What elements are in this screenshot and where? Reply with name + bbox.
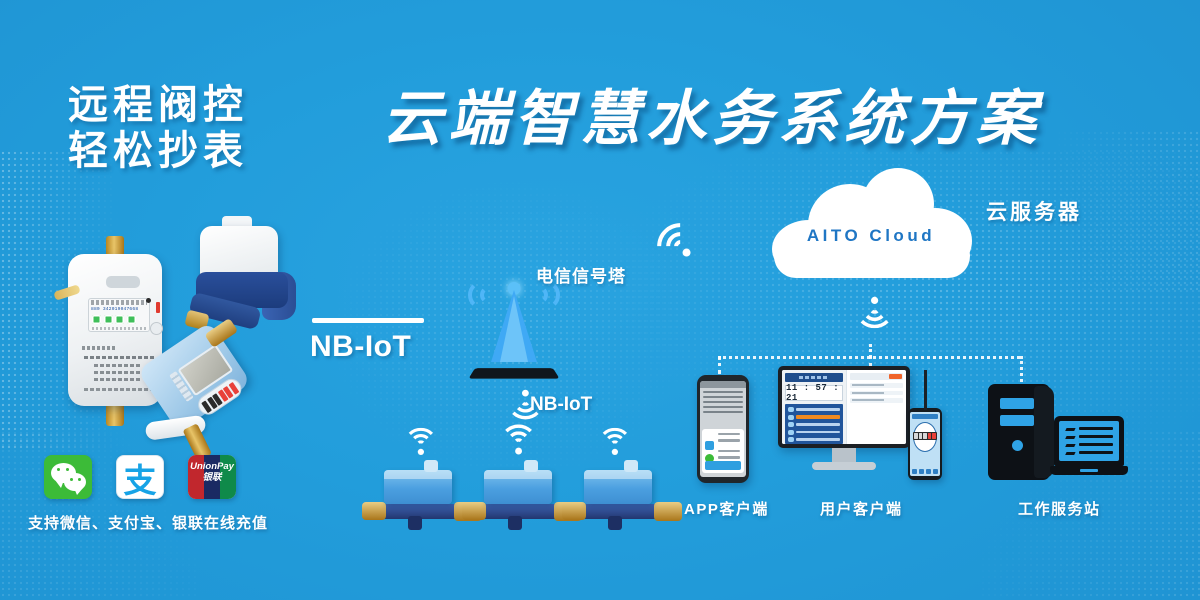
wechat-pay-icon[interactable]	[44, 455, 92, 499]
nbiot-primary-label: NB-IoT	[310, 330, 411, 364]
dashboard-toolbar[interactable]	[850, 373, 903, 380]
handheld-buttons[interactable]	[912, 469, 938, 474]
connector-to-user-client	[869, 356, 872, 366]
meter-red-led	[156, 302, 160, 313]
laptop-icon	[1050, 416, 1128, 480]
app-client-phone[interactable]	[697, 375, 749, 483]
unionpay-label: UnionPay 银联	[188, 461, 236, 483]
dashboard-left-pane: 11 : 57 : 21	[782, 370, 846, 444]
meter-brand-mark	[82, 346, 116, 350]
nbiot-secondary-label: NB-IoT	[530, 394, 592, 416]
handheld-screen	[910, 412, 940, 476]
payment-methods-row: 支 UnionPay 银联	[44, 455, 236, 499]
nbiot-water-meter-3	[568, 462, 672, 528]
wifi-icon-uplink-to-cloud	[648, 214, 719, 285]
wifi-icon-meter-2	[500, 424, 545, 453]
unionpay-label-bottom: 银联	[188, 472, 236, 483]
unionpay-label-top: UnionPay	[188, 461, 236, 472]
meter-panel-footnote	[92, 327, 146, 330]
laptop-keyboard	[1050, 466, 1128, 475]
phone-detail-rows	[703, 391, 743, 416]
dashboard-row	[850, 383, 903, 388]
monitor-bezel: 11 : 57 : 21	[778, 366, 910, 448]
workstation-icon	[988, 384, 1128, 484]
monitor-stand	[812, 462, 876, 470]
server-tower-icon	[988, 384, 1050, 480]
poster-canvas: 远程阀控 轻松抄表 云端智慧水务系统方案 880 342019047668	[0, 0, 1200, 600]
device-label-app-client: APP客户端	[684, 498, 769, 519]
nbiot-water-meter-1	[368, 462, 472, 528]
dashboard-header	[785, 373, 843, 382]
dashboard-right-pane	[846, 370, 906, 444]
alipay-icon[interactable]: 支	[116, 455, 164, 499]
cloud-server-icon: AITO Cloud	[766, 168, 976, 278]
phone-status-bar	[700, 381, 746, 388]
sub-headline-line-1: 远程阀控	[68, 82, 248, 128]
wifi-icon-meter-3	[598, 428, 639, 455]
dashboard-clock: 11 : 57 : 21	[785, 385, 843, 401]
telecom-tower-label: 电信信号塔	[536, 262, 626, 287]
meter-sensor-dot	[146, 298, 151, 303]
cloud-server-label: 云服务器	[986, 196, 1082, 226]
device-label-user-client: 用户客户端	[820, 498, 903, 519]
handheld-titlebar	[912, 414, 938, 419]
meter-serial-number: 880 342019047668	[91, 307, 138, 312]
meter-display-panel: 880 342019047668	[88, 298, 150, 332]
dashboard-row	[850, 398, 903, 403]
server-drive-bay-2	[1000, 415, 1034, 426]
meter-button[interactable]	[150, 322, 163, 335]
tower-mast-inner	[500, 296, 528, 362]
wifi-icon-meter-1	[404, 428, 445, 455]
wifi-icon-cloud-downlink	[848, 298, 895, 329]
alipay-glyph: 支	[117, 455, 163, 499]
sub-headline: 远程阀控 轻松抄表	[68, 82, 248, 174]
nbiot-water-meter-2	[468, 462, 572, 528]
user-client-monitor[interactable]: 11 : 57 : 21	[778, 366, 910, 486]
dashboard-device-list[interactable]	[785, 404, 843, 444]
phone-screen	[700, 381, 746, 477]
telecom-signal-tower-icon	[466, 276, 562, 380]
sub-headline-line-2: 轻松抄表	[68, 128, 248, 174]
server-power-led	[1012, 440, 1023, 451]
handheld-meter-reader[interactable]	[908, 408, 942, 480]
phone-payment-dialog[interactable]	[702, 429, 744, 473]
dashboard-row	[850, 391, 903, 396]
handheld-meter-digits	[913, 432, 937, 440]
dashboard-action-button[interactable]	[889, 374, 902, 379]
payment-caption: 支持微信、支付宝、银联在线充值	[28, 512, 268, 533]
meter-cap	[106, 276, 140, 288]
connector-to-app-client	[718, 356, 721, 374]
unionpay-icon[interactable]: UnionPay 银联	[188, 455, 236, 499]
meter-indicator-leds	[92, 315, 136, 324]
laptop-screen	[1059, 421, 1119, 461]
phone-dialog-wechat-icon	[705, 441, 714, 450]
tower-base	[468, 368, 559, 378]
handheld-cable	[924, 370, 927, 410]
connector-to-workstation	[1020, 356, 1023, 382]
cloud-name-label: AITO Cloud	[766, 226, 976, 246]
phone-dialog-confirm-button[interactable]	[705, 461, 741, 470]
page-title: 云端智慧水务系统方案	[382, 84, 1042, 154]
meter-panel-title	[91, 300, 147, 305]
monitor-screen: 11 : 57 : 21	[782, 370, 906, 444]
device-label-workstation: 工作服务站	[1018, 498, 1101, 519]
laptop-lid	[1054, 416, 1124, 466]
server-drive-bay-1	[1000, 398, 1034, 409]
